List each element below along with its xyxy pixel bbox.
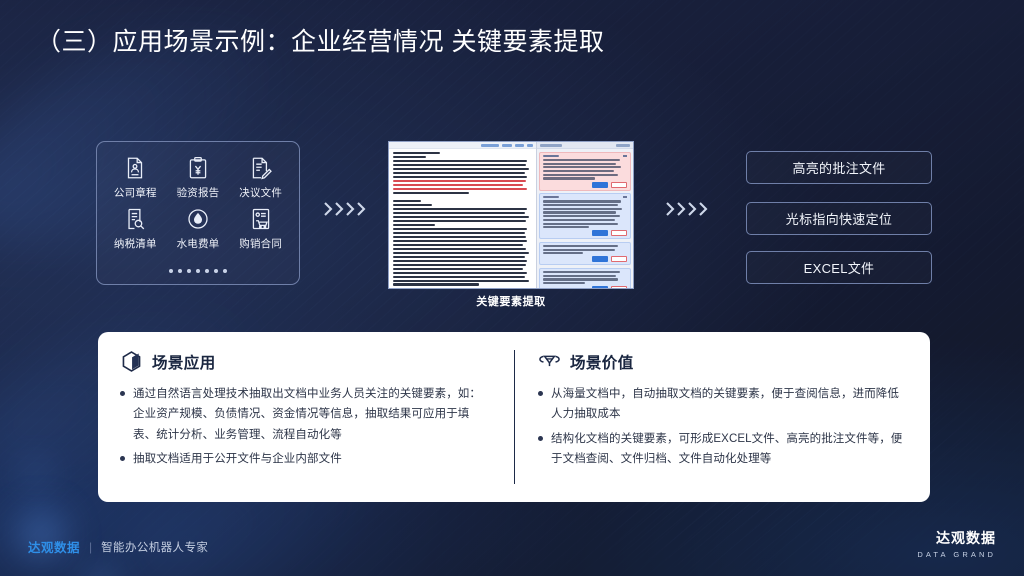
- list-item: 抽取文档适用于公开文件与企业内部文件: [120, 449, 492, 469]
- scene-value-column: 场景价值 从海量文档中，自动抽取文档的关键要素，便于查阅信息，进而降低人力抽取成…: [512, 332, 930, 502]
- confirm-button[interactable]: [592, 256, 608, 262]
- scene-application-column: 场景应用 通过自然语言处理技术抽取出文档中业务人员关注的关键要素，如：企业资产规…: [98, 332, 512, 502]
- input-document-types-panel: 公司章程 验资报告 决议文件: [96, 141, 300, 285]
- footer-left: 达观数据 | 智能办公机器人专家: [28, 537, 208, 556]
- bullet-text: 通过自然语言处理技术抽取出文档中业务人员关注的关键要素，如：企业资产规模、负债情…: [133, 384, 492, 445]
- detail-panel: 场景应用 通过自然语言处理技术抽取出文档中业务人员关注的关键要素，如：企业资产规…: [98, 332, 930, 502]
- document-toolbar[interactable]: [389, 142, 536, 149]
- input-item-label: 公司章程: [114, 185, 157, 200]
- document-text: [389, 149, 536, 288]
- input-item-company-charter[interactable]: 公司章程: [104, 155, 167, 200]
- screenshot-caption: 关键要素提取: [388, 293, 634, 309]
- dot: [205, 269, 209, 273]
- scene-application-header: 场景应用: [120, 350, 492, 373]
- chevrons-right-icon: [664, 200, 720, 218]
- confirm-button[interactable]: [592, 230, 608, 236]
- document-cart-icon: [248, 206, 274, 232]
- input-item-label: 决议文件: [239, 185, 282, 200]
- toolbar-item[interactable]: [515, 144, 524, 147]
- dot: [223, 269, 227, 273]
- bullet-dot: [538, 436, 543, 441]
- delete-button[interactable]: [611, 286, 627, 288]
- output-chip-excel-file[interactable]: EXCEL文件: [746, 251, 932, 284]
- footer-logo: 达观数据 DATA GRAND: [917, 528, 996, 559]
- flow-arrow-left: [322, 200, 378, 218]
- input-item-tax-list[interactable]: 纳税清单: [104, 206, 167, 251]
- funnel-icon: [538, 350, 561, 373]
- input-item-label: 购销合同: [239, 236, 282, 251]
- card-title: [543, 155, 559, 157]
- dot: [178, 269, 182, 273]
- bullet-text: 从海量文档中，自动抽取文档的关键要素，便于查阅信息，进而降低人力抽取成本: [551, 384, 910, 425]
- cube-icon: [120, 350, 143, 373]
- input-item-label: 水电费单: [177, 236, 220, 251]
- bullet-dot: [120, 456, 125, 461]
- toolbar-item[interactable]: [502, 144, 512, 147]
- list-item: 结构化文档的关键要素，可形成EXCEL文件、高亮的批注文件等，便于文档查阅、文件…: [538, 429, 910, 470]
- footer-tagline: 智能办公机器人专家: [101, 539, 208, 555]
- bullet-dot: [538, 391, 543, 396]
- footer-brand: 达观数据: [28, 537, 80, 556]
- product-screenshot[interactable]: 关键要素提取: [388, 141, 634, 289]
- confirm-button[interactable]: [592, 286, 608, 288]
- delete-button[interactable]: [611, 230, 627, 236]
- results-action[interactable]: [616, 144, 630, 147]
- dot: [187, 269, 191, 273]
- input-item-label: 纳税清单: [114, 236, 157, 251]
- input-item-capital-verification-report[interactable]: 验资报告: [167, 155, 230, 200]
- chevrons-right-icon: [322, 200, 378, 218]
- input-icon-grid: 公司章程 验资报告 决议文件: [97, 142, 299, 251]
- list-item: 通过自然语言处理技术抽取出文档中业务人员关注的关键要素，如：企业资产规模、负债情…: [120, 384, 492, 445]
- logo-english: DATA GRAND: [917, 550, 996, 559]
- output-chip-cursor-locate[interactable]: 光标指向快速定位: [746, 202, 932, 235]
- footer-separator: |: [89, 540, 92, 554]
- scroll-magnifier-icon: [122, 206, 148, 232]
- scene-value-header: 场景价值: [538, 350, 910, 373]
- result-card-blue[interactable]: [539, 193, 630, 239]
- confirm-button[interactable]: [592, 182, 608, 188]
- input-item-purchase-sales-contract[interactable]: 购销合同: [229, 206, 292, 251]
- water-drop-icon: [185, 206, 211, 232]
- chevron-down-icon[interactable]: [623, 155, 627, 157]
- logo-chinese: 达观数据: [917, 528, 996, 548]
- toolbar-item[interactable]: [527, 144, 533, 147]
- chevron-down-icon[interactable]: [623, 196, 627, 198]
- dot: [196, 269, 200, 273]
- document-viewer[interactable]: [389, 142, 537, 288]
- more-types-dots: [97, 269, 299, 273]
- scene-value-title: 场景价值: [570, 351, 634, 373]
- list-item: 从海量文档中，自动抽取文档的关键要素，便于查阅信息，进而降低人力抽取成本: [538, 384, 910, 425]
- clipboard-yuan-icon: [185, 155, 211, 181]
- delete-button[interactable]: [611, 182, 627, 188]
- dot: [214, 269, 218, 273]
- flow-arrow-right: [664, 200, 720, 218]
- results-title-bar: [540, 144, 562, 147]
- results-list: [537, 149, 633, 288]
- result-card-red[interactable]: [539, 152, 630, 191]
- result-card-blue[interactable]: [539, 242, 630, 266]
- card-title: [543, 196, 559, 198]
- results-toolbar[interactable]: [537, 142, 633, 149]
- screenshot-frame: [388, 141, 634, 289]
- bullet-text: 抽取文档适用于公开文件与企业内部文件: [133, 449, 342, 469]
- input-item-utility-bill[interactable]: 水电费单: [167, 206, 230, 251]
- document-person-icon: [122, 155, 148, 181]
- input-item-resolution-document[interactable]: 决议文件: [229, 155, 292, 200]
- bullet-text: 结构化文档的关键要素，可形成EXCEL文件、高亮的批注文件等，便于文档查阅、文件…: [551, 429, 910, 470]
- toolbar-item[interactable]: [481, 144, 499, 147]
- output-chip-annotated-file[interactable]: 高亮的批注文件: [746, 151, 932, 184]
- dot: [169, 269, 173, 273]
- delete-button[interactable]: [611, 256, 627, 262]
- scene-application-title: 场景应用: [152, 351, 216, 373]
- bullet-dot: [120, 391, 125, 396]
- result-card-blue[interactable]: [539, 268, 630, 288]
- document-pen-icon: [248, 155, 274, 181]
- extraction-results-panel[interactable]: [537, 142, 633, 288]
- page-title: （三）应用场景示例：企业经营情况 关键要素提取: [36, 22, 604, 58]
- input-item-label: 验资报告: [177, 185, 220, 200]
